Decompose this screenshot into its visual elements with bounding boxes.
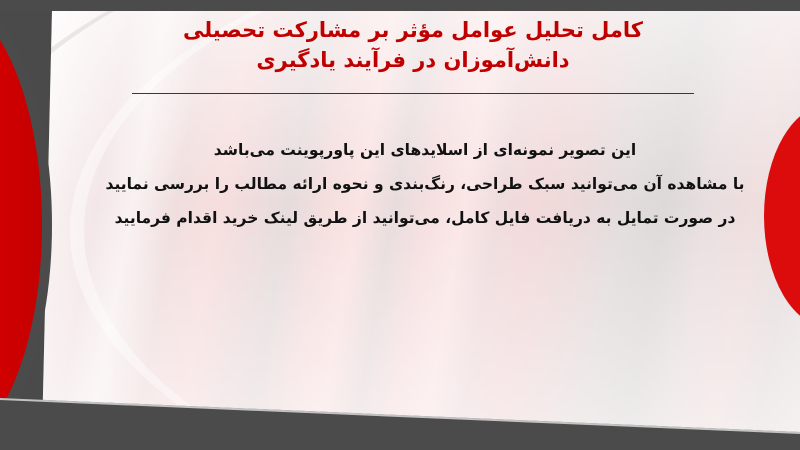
slide-content: کامل تحلیل عوامل مؤثر بر مشارکت تحصیلی د… xyxy=(56,11,770,431)
body-line-3: در صورت تمایل به دریافت فایل کامل، می‌تو… xyxy=(80,201,770,235)
body-line-1: این تصویر نمونه‌ای از اسلایدهای این پاور… xyxy=(80,133,770,167)
title-divider-rule xyxy=(132,93,694,94)
slide-canvas: کامل تحلیل عوامل مؤثر بر مشارکت تحصیلی د… xyxy=(0,0,800,450)
body-line-2: با مشاهده آن می‌توانید سبک طراحی، رنگ‌بن… xyxy=(80,167,770,201)
slide-body-text: این تصویر نمونه‌ای از اسلایدهای این پاور… xyxy=(80,133,770,235)
top-frame-bar xyxy=(0,0,800,11)
slide-title: کامل تحلیل عوامل مؤثر بر مشارکت تحصیلی د… xyxy=(56,15,770,75)
title-line-2: دانش‌آموزان در فرآیند یادگیری xyxy=(56,45,770,75)
title-line-1: کامل تحلیل عوامل مؤثر بر مشارکت تحصیلی xyxy=(56,15,770,45)
